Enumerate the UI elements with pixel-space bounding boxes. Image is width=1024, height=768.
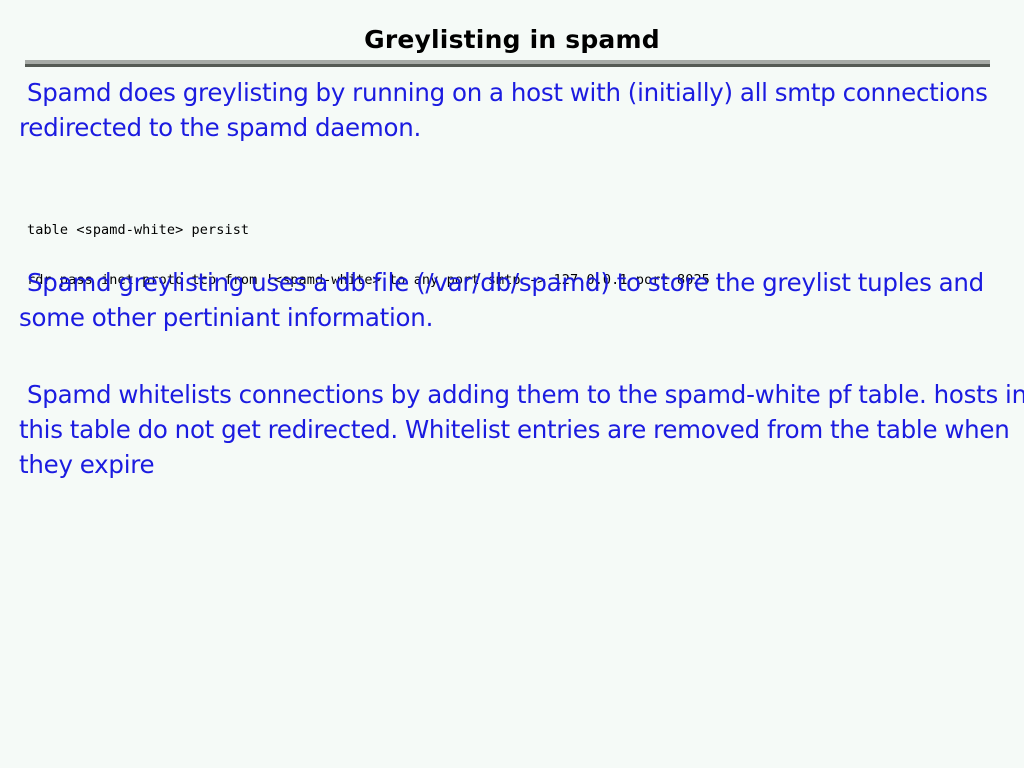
body-paragraph-1: Spamd does greylisting by running on a h…: [0, 76, 1024, 146]
page-title: Greylisting in spamd: [0, 26, 1024, 54]
body-paragraph-2: Spamd greylisting uses a db file (/var/d…: [0, 266, 1024, 336]
body-paragraph-3: Spamd whitelists connections by adding t…: [0, 378, 1024, 482]
presentation-slide: Greylisting in spamd Spamd does greylist…: [0, 0, 1024, 768]
code-line-1: table <spamd-white> persist: [27, 222, 710, 239]
title-divider-shadow: [25, 64, 990, 67]
title-divider: [25, 60, 990, 67]
